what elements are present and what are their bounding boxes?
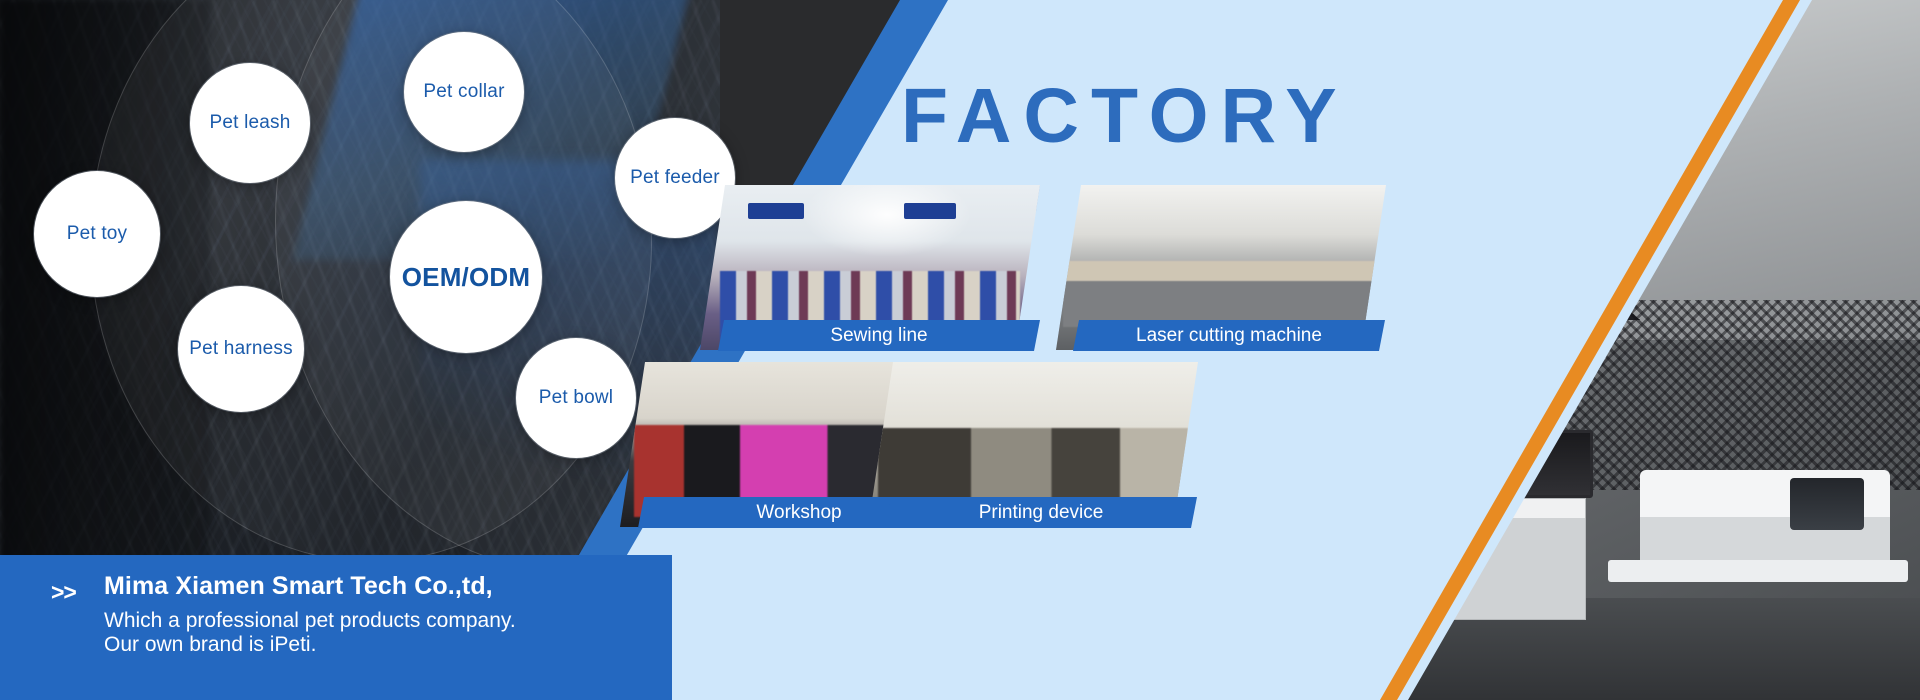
caption-sewing-line: Sewing line (718, 320, 1040, 351)
bubble-label: Pet bowl (539, 388, 613, 409)
bubble-label: OEM/ODM (402, 263, 531, 292)
photo-sign-left-icon (748, 203, 804, 219)
company-description-line2: Our own brand is iPeti. (104, 633, 316, 656)
bubble-oem-odm[interactable]: OEM/ODM (390, 201, 542, 353)
bubble-label: Pet toy (67, 224, 128, 245)
bubble-label: Pet harness (189, 339, 293, 360)
company-description-line1: Which a professional pet products compan… (104, 609, 516, 632)
photo-sign-right-icon (904, 203, 956, 219)
factory-promo-banner: Pet toy Pet leash Pet collar Pet feeder … (0, 0, 1920, 700)
company-name: Mima Xiamen Smart Tech Co.,td, (104, 572, 493, 601)
bubble-pet-collar[interactable]: Pet collar (404, 32, 524, 152)
machine-control-panel (1790, 478, 1864, 530)
bubble-pet-leash[interactable]: Pet leash (190, 63, 310, 183)
bubble-pet-bowl[interactable]: Pet bowl (516, 338, 636, 458)
company-info-bar: >> Mima Xiamen Smart Tech Co.,td, Which … (0, 555, 672, 700)
company-description: Which a professional pet products compan… (104, 609, 516, 658)
machine-table (1608, 560, 1908, 582)
chevron-icon: >> (51, 579, 76, 606)
bubble-label: Pet leash (209, 113, 290, 134)
bubble-label: Pet feeder (630, 168, 720, 189)
bubble-pet-harness[interactable]: Pet harness (178, 286, 304, 412)
bubble-pet-feeder[interactable]: Pet feeder (615, 118, 735, 238)
bubble-label: Pet collar (423, 82, 504, 103)
bubble-pet-toy[interactable]: Pet toy (34, 171, 160, 297)
caption-laser-cutting-machine: Laser cutting machine (1073, 320, 1385, 351)
factory-heading: FACTORY (901, 78, 1349, 155)
caption-printing-device: Printing device (885, 497, 1197, 528)
